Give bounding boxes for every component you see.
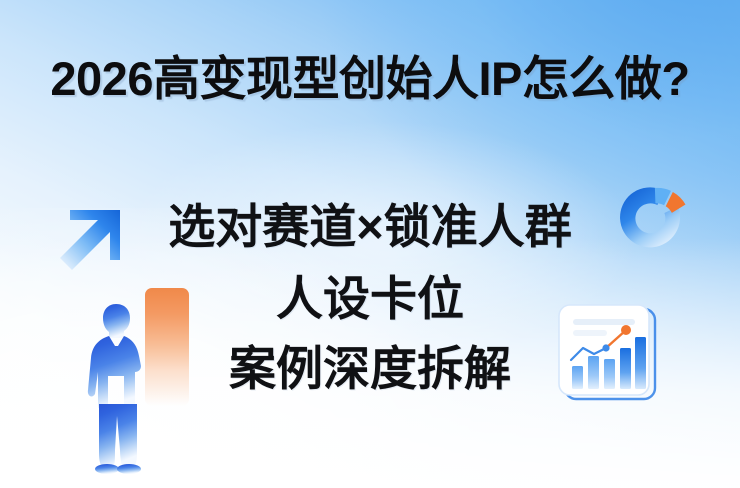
page-title: 2026高变现型创始人IP怎么做? — [0, 54, 740, 104]
bar-chart-card-icon — [556, 300, 660, 404]
statement-line-1: 选对赛道×锁准人群 — [0, 196, 740, 258]
poster-canvas: 2026高变现型创始人IP怎么做? — [0, 0, 740, 488]
person-silhouette-icon — [72, 298, 182, 478]
